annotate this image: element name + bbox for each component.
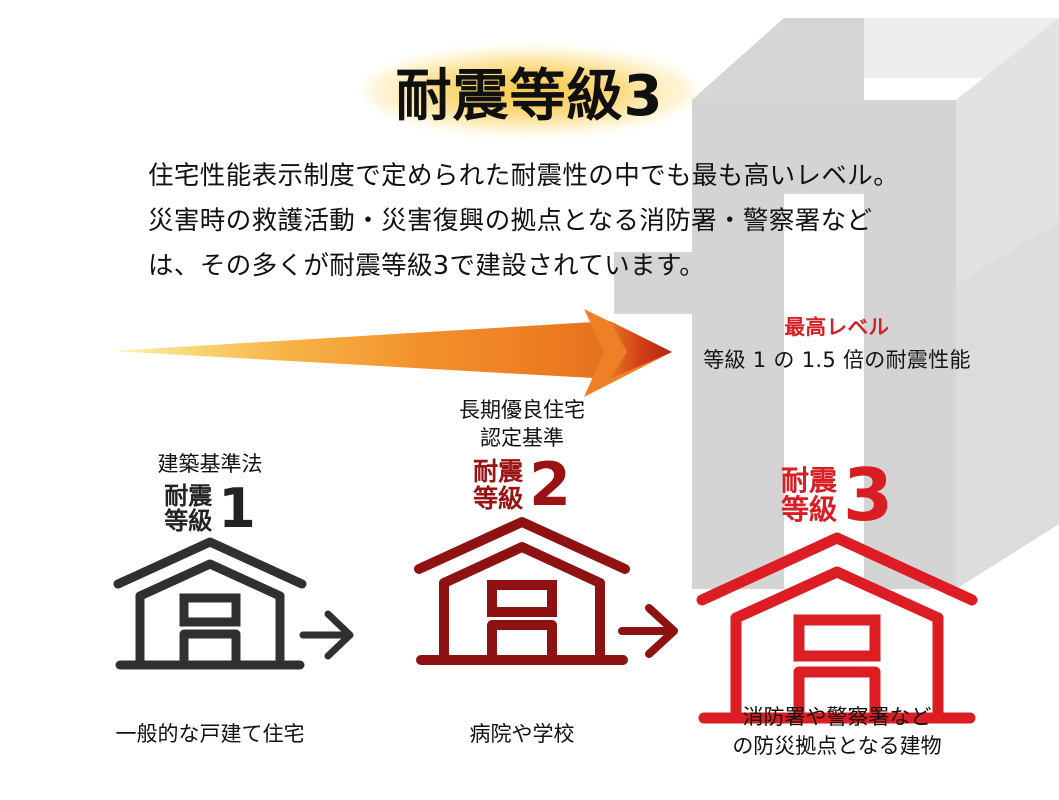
grade3-callout: 最高レベル 等級 1 の 1.5 倍の耐震性能 [672, 310, 1002, 374]
grade-3-caption-line-1: 消防署や警察署など [672, 703, 1002, 732]
grade-1-heading: 建築基準法 [60, 450, 360, 478]
grade-2-badge-kanji: 耐震 等級 [473, 459, 523, 512]
page-title-container: 耐震等級3 [0, 46, 1059, 136]
grade-3-kanji-line-1: 耐震 [781, 466, 837, 495]
arrow-right-icon [298, 604, 360, 666]
grade-2-heading-line-1: 長期優良住宅 [372, 396, 672, 424]
grade-1-number: 1 [218, 484, 256, 534]
grade-3-number: 3 [843, 462, 893, 528]
grade-group-3: 耐震 等級 3 [672, 462, 1002, 738]
grade-3-badge: 耐震 等級 3 [672, 462, 1002, 528]
grade-3-caption-line-2: の防災拠点となる建物 [672, 732, 1002, 761]
grade-2-caption-line-1: 病院や学校 [372, 720, 672, 749]
grade-1-kanji-line-1: 耐震 [164, 484, 212, 509]
house-icon [110, 534, 310, 679]
grade-1-badge-kanji: 耐震 等級 [164, 484, 212, 534]
grade-1-caption-line-1: 一般的な戸建て住宅 [60, 720, 360, 749]
page-title: 耐震等級3 [396, 51, 664, 132]
intro-line-3: は、その多くが耐震等級3で建設されています。 [148, 244, 938, 289]
grade-3-kanji-line-2: 等級 [781, 495, 837, 524]
grade3-sub-label: 等級 1 の 1.5 倍の耐震性能 [672, 344, 1002, 374]
grade-1-kanji-line-2: 等級 [164, 509, 212, 534]
house-icon [410, 513, 634, 675]
progress-arrow-icon [112, 305, 672, 397]
grade-2-kanji-line-1: 耐震 [473, 459, 523, 485]
intro-paragraph: 住宅性能表示制度で定められた耐震性の中でも最も高いレベル。 災害時の救護活動・災… [148, 154, 938, 289]
intro-line-2: 災害時の救護活動・災害復興の拠点となる消防署・警察署など [148, 199, 938, 244]
grade-1-caption: 一般的な戸建て住宅 [60, 720, 360, 749]
grade-1-badge: 耐震 等級 1 [60, 484, 360, 534]
grade-2-badge: 耐震 等級 2 [372, 458, 672, 513]
grade-3-badge-kanji: 耐震 等級 [781, 466, 837, 525]
grade-3-caption: 消防署や警察署など の防災拠点となる建物 [672, 703, 1002, 761]
intro-line-1: 住宅性能表示制度で定められた耐震性の中でも最も高いレベル。 [148, 154, 938, 199]
grade-2-number: 2 [529, 458, 571, 513]
grade-2-heading-line-2: 認定基準 [372, 424, 672, 452]
grade3-top-label: 最高レベル [672, 310, 1002, 340]
arrow-right-icon [618, 598, 684, 664]
grade-2-caption: 病院や学校 [372, 720, 672, 749]
grade-2-kanji-line-2: 等級 [473, 486, 523, 512]
